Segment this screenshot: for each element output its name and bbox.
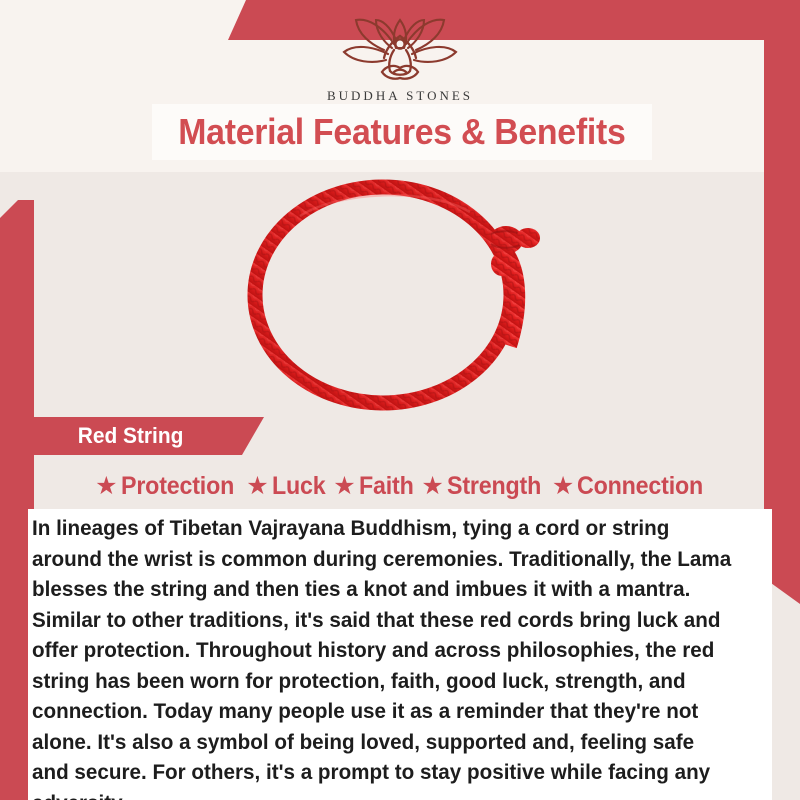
brand-logo: BUDDHA STONES: [0, 14, 800, 104]
benefit-label: Connection: [577, 472, 703, 501]
brand-name: BUDDHA STONES: [0, 88, 800, 104]
benefit-item-protection: ★ Protection: [95, 472, 242, 501]
title-banner: Material Features & Benefits: [152, 104, 652, 160]
benefit-label: Protection: [121, 472, 234, 501]
page-title: Material Features & Benefits: [178, 111, 625, 153]
star-icon: ★: [95, 474, 117, 499]
star-icon: ★: [552, 474, 574, 499]
benefit-item-strength: ★ Strength: [421, 472, 548, 501]
star-icon: ★: [246, 474, 268, 499]
star-icon: ★: [333, 474, 355, 499]
star-icon: ★: [421, 474, 443, 499]
benefit-item-faith: ★ Faith: [333, 472, 417, 501]
product-image: [150, 168, 670, 418]
section-label: Red String: [38, 423, 184, 449]
infographic-page: BUDDHA STONES Material Features & Benefi…: [0, 0, 800, 800]
lotus-meditation-icon: [332, 14, 468, 86]
description-block: In lineages of Tibetan Vajrayana Buddhis…: [28, 509, 772, 800]
benefit-label: Luck: [272, 472, 326, 501]
benefit-label: Faith: [359, 472, 414, 501]
description-text: In lineages of Tibetan Vajrayana Buddhis…: [32, 513, 733, 800]
benefit-label: Strength: [447, 472, 541, 501]
red-braided-bracelet-illustration: [150, 168, 670, 418]
section-label-banner: Red String: [34, 417, 264, 455]
benefit-item-connection: ★ Connection: [552, 472, 713, 501]
benefits-list: ★ Protection ★ Luck ★ Faith ★ Strength ★…: [34, 466, 774, 506]
benefit-item-luck: ★ Luck: [246, 472, 329, 501]
